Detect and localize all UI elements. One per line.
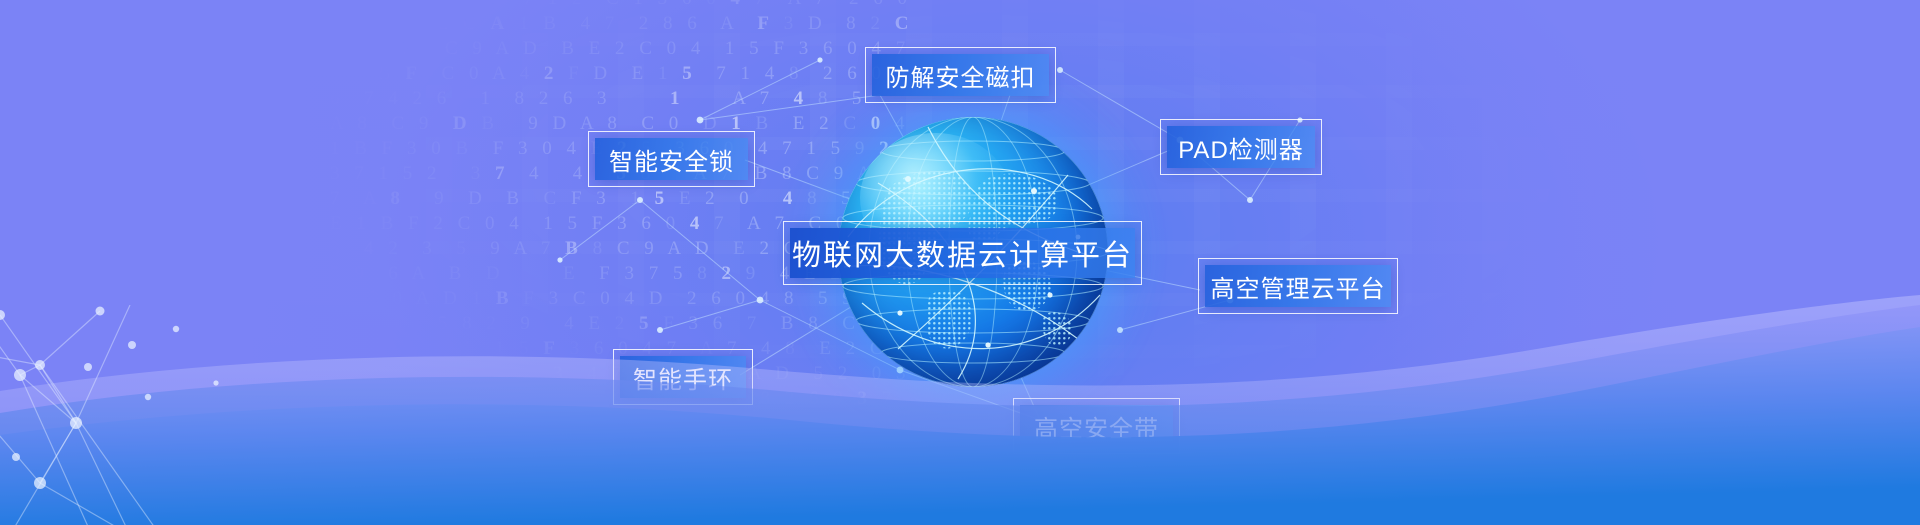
tag-iot-bigdata-cloud-platform[interactable]: 物联网大数据云计算平台 — [790, 228, 1135, 278]
tag-label: 智能安全锁 — [609, 142, 734, 177]
tag-zhineng-anquansuo[interactable]: 智能安全锁 — [595, 138, 748, 180]
tag-pad-jianceqi[interactable]: PAD检测器 — [1167, 126, 1315, 168]
iot-platform-banner: 0 4 2 F 9 B 5 7 1 2 C 1 3 6 0 4 7 A 7 2 … — [0, 0, 1920, 525]
network-node-cluster — [0, 305, 280, 525]
tag-label: PAD检测器 — [1178, 130, 1304, 165]
tag-fangjie-anquan-cikou[interactable]: 防解安全磁扣 — [872, 54, 1049, 96]
wave-shape — [0, 295, 1920, 525]
tag-label: 防解安全磁扣 — [886, 58, 1036, 93]
tag-label: 物联网大数据云计算平台 — [792, 232, 1133, 274]
